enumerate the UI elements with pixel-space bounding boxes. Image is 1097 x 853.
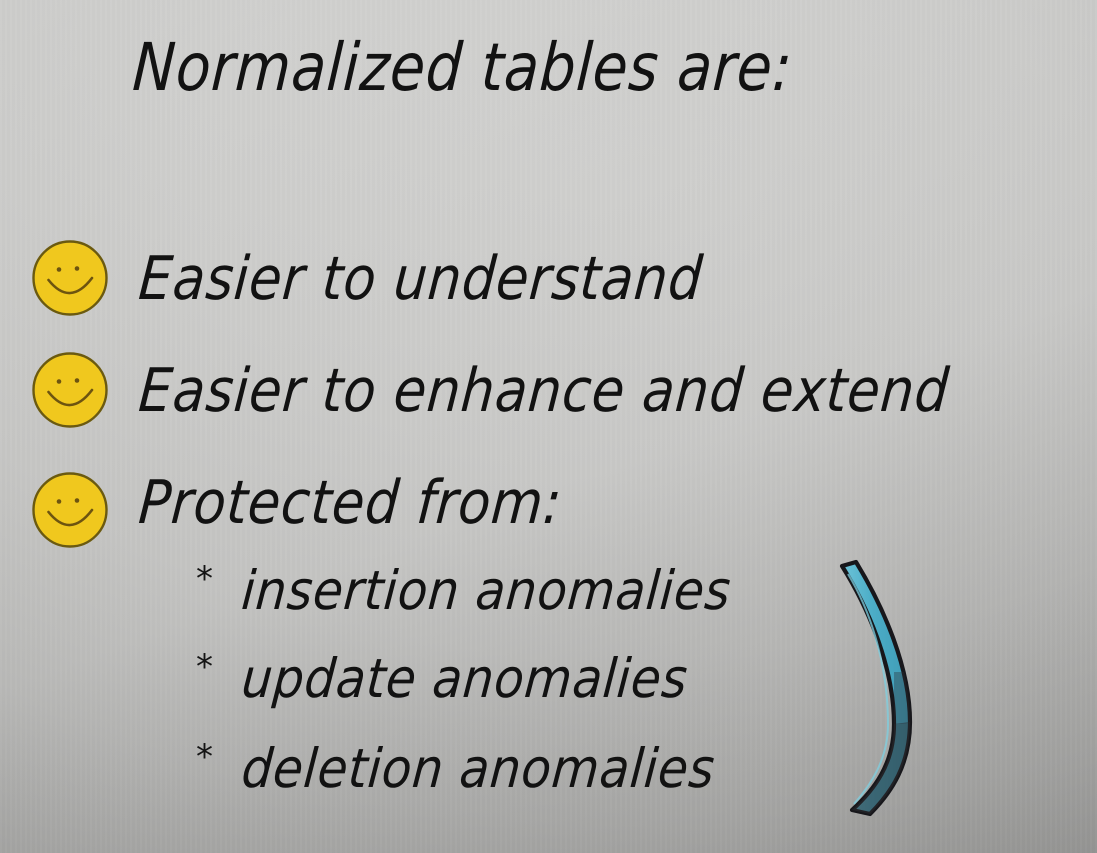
bullet-item-label: Easier to understand <box>137 249 705 309</box>
sub-bullet-label: update anomalies <box>240 652 690 706</box>
smiley-face-icon <box>30 238 110 318</box>
smiley-face-icon <box>30 350 110 430</box>
sub-bullet-row: * deletion anomalies <box>196 738 769 792</box>
asterisk-marker-icon: * <box>196 650 244 684</box>
sub-bullet-row: * update anomalies <box>196 648 739 702</box>
bullet-item-label: Protected from: <box>137 473 565 533</box>
sub-bullet-label: deletion anomalies <box>240 742 717 796</box>
teal-curly-brace-icon <box>826 552 926 827</box>
asterisk-marker-icon: * <box>196 562 244 596</box>
slide-canvas: Normalized tables are: Easier to underst… <box>0 0 1097 853</box>
sub-bullet-label: insertion anomalies <box>240 564 733 618</box>
sub-bullet-row: * insertion anomalies <box>196 560 787 614</box>
paper-grain-overlay <box>0 0 1097 853</box>
asterisk-marker-icon: * <box>196 740 244 774</box>
smiley-face-icon <box>30 470 110 550</box>
page-title: Normalized tables are: <box>131 35 794 101</box>
bullet-item-label: Easier to enhance and extend <box>137 361 952 421</box>
